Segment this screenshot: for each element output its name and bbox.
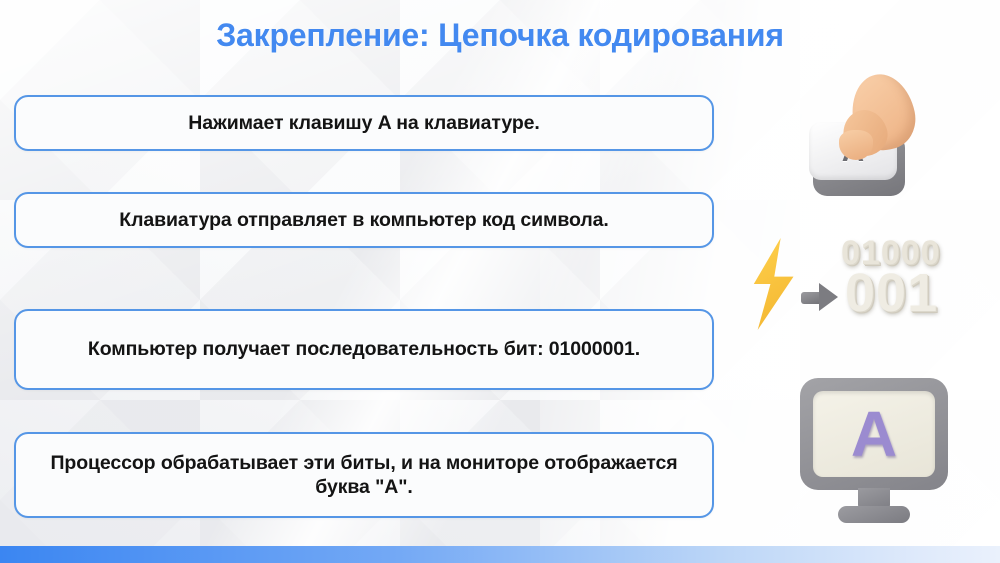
arrow-head (819, 283, 838, 311)
hand-pressing-key-icon: A (795, 78, 970, 208)
binary-digits-bottom: 001 (845, 262, 938, 324)
monitor-screen: A (813, 391, 935, 477)
step-box-1: Нажимает клавишу A на клавиатуре. (14, 95, 714, 151)
step-box-4: Процессор обрабатывает эти биты, и на мо… (14, 432, 714, 518)
step-text-4: Процессор обрабатывает эти биты, и на мо… (16, 447, 712, 504)
bottom-accent-bar (0, 546, 1000, 563)
monitor-icon: A (800, 378, 960, 528)
slide-root: Закрепление: Цепочка кодирования Нажимае… (0, 0, 1000, 563)
lightning-bits-icon: 01000 001 (735, 238, 985, 333)
step-text-2: Клавиатура отправляет в компьютер код си… (105, 204, 622, 236)
step-box-2: Клавиатура отправляет в компьютер код си… (14, 192, 714, 248)
page-title: Закрепление: Цепочка кодирования (0, 17, 1000, 54)
monitor-letter: A (851, 402, 897, 466)
lightning-bolt-icon (741, 238, 805, 330)
monitor-foot (838, 506, 910, 523)
step-text-1: Нажимает клавишу A на клавиатуре. (174, 107, 553, 139)
arrow-right-icon (801, 282, 845, 312)
step-box-3: Компьютер получает последовательность би… (14, 309, 714, 390)
step-text-3: Компьютер получает последовательность би… (74, 333, 654, 365)
